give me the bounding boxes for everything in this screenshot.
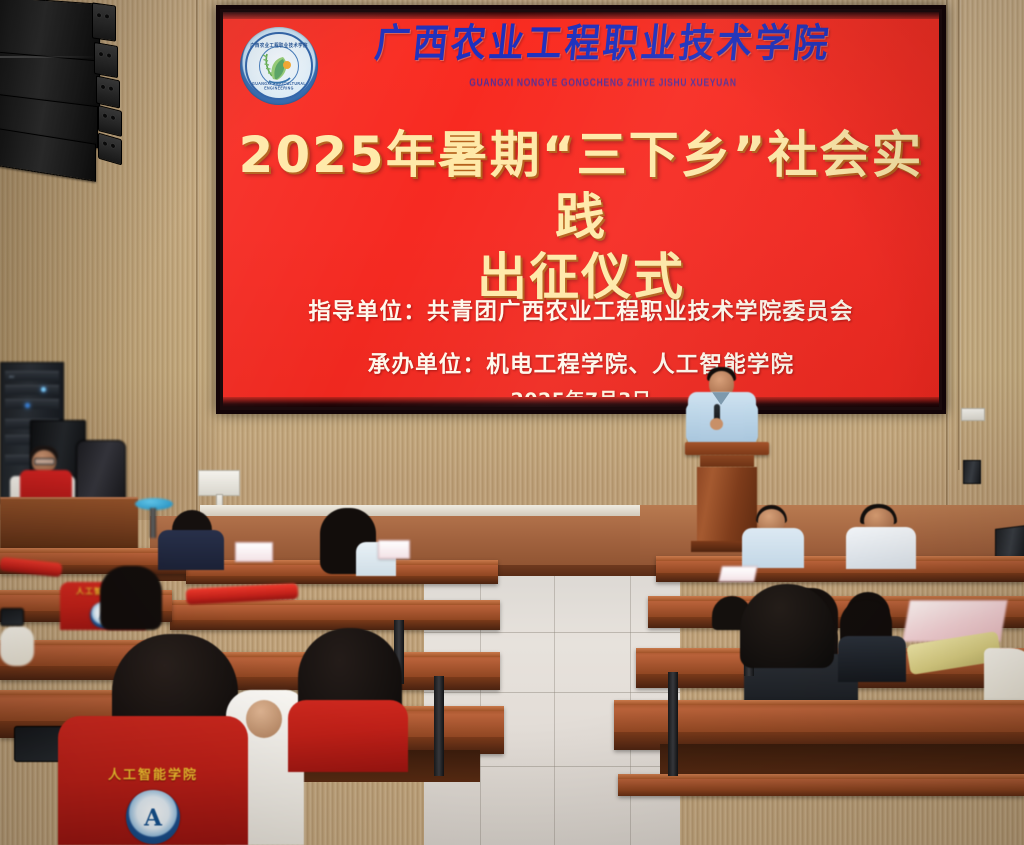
wall-control-plate[interactable]	[198, 470, 240, 496]
student-shirt	[846, 527, 916, 569]
rack-status-led	[41, 387, 46, 392]
volunteer-hand	[246, 700, 282, 738]
slide-subtitle-guidance: 指导单位：共青团广西农业工程职业技术学院委员会	[223, 294, 939, 326]
auditorium-photo: 广西农业工程职业技术学院 GUANGXI AGRICULTURAL ENGINE…	[0, 0, 1024, 845]
university-seal-logo: 广西农业工程职业技术学院 GUANGXI AGRICULTURAL ENGINE…	[240, 27, 318, 105]
slide-header: 广西农业工程职业技术学院 GUANGXI AGRICULTURAL ENGINE…	[223, 22, 939, 112]
glasses-icon	[34, 458, 55, 465]
bench-row	[656, 556, 1024, 582]
vest-text: 人工智能学院	[58, 764, 248, 783]
bench-leg	[434, 676, 444, 776]
stage-monitor-speaker-small	[963, 460, 981, 484]
slide-subtitle-host: 承办单位：机电工程学院、人工智能学院	[223, 347, 939, 379]
school-name-text: 广西农业工程职业技术学院	[321, 24, 885, 63]
line-array-speaker	[0, 0, 120, 186]
wall-seam	[946, 0, 949, 520]
presenter-arm-right	[744, 404, 758, 442]
phone-device[interactable]	[0, 608, 24, 626]
rack-label: AV	[9, 374, 15, 379]
bench-row	[170, 600, 500, 630]
led-presentation-screen: 广西农业工程职业技术学院 GUANGXI AGRICULTURAL ENGINE…	[216, 5, 946, 414]
podium-neck	[700, 455, 754, 467]
presenter-hand	[710, 418, 723, 430]
stool-leg	[150, 508, 156, 538]
slide-title-line1: 2025年暑期“三下乡”社会实践	[223, 124, 939, 248]
wall-seam	[196, 0, 199, 520]
wall-control-plate[interactable]	[961, 408, 985, 421]
vest-emblem: A	[126, 790, 180, 844]
bench-row	[618, 774, 1024, 796]
volunteer-vest	[288, 700, 408, 772]
bench-leg	[668, 672, 678, 776]
bench-shelf	[660, 744, 1024, 778]
presenter-arm-left	[686, 404, 700, 442]
podium-top	[685, 442, 769, 455]
desk-sign-card	[378, 540, 410, 559]
desk-paper	[718, 566, 757, 582]
leaf-wheat-icon	[259, 48, 299, 88]
student-shirt	[838, 636, 906, 682]
emblem-letter: A	[144, 805, 162, 832]
screen-bezel-bottom	[223, 397, 939, 407]
white-cloth	[0, 626, 34, 666]
student-hair	[740, 584, 834, 668]
student-shirt	[158, 530, 224, 570]
slide-title-block: 2025年暑期“三下乡”社会实践 出征仪式	[223, 124, 939, 308]
school-pinyin-text: GUANGXI NONGYE GONGCHENG ZHIYE JISHU XUE…	[323, 75, 883, 89]
screen-bezel-top	[223, 12, 939, 19]
volunteer-vest: 人工智能学院 A	[58, 716, 248, 845]
wall-seam	[958, 0, 961, 470]
rack-power-led	[25, 403, 30, 408]
student-shirt	[742, 528, 804, 568]
student-hair	[100, 566, 162, 630]
desk-sign-card	[235, 542, 273, 562]
